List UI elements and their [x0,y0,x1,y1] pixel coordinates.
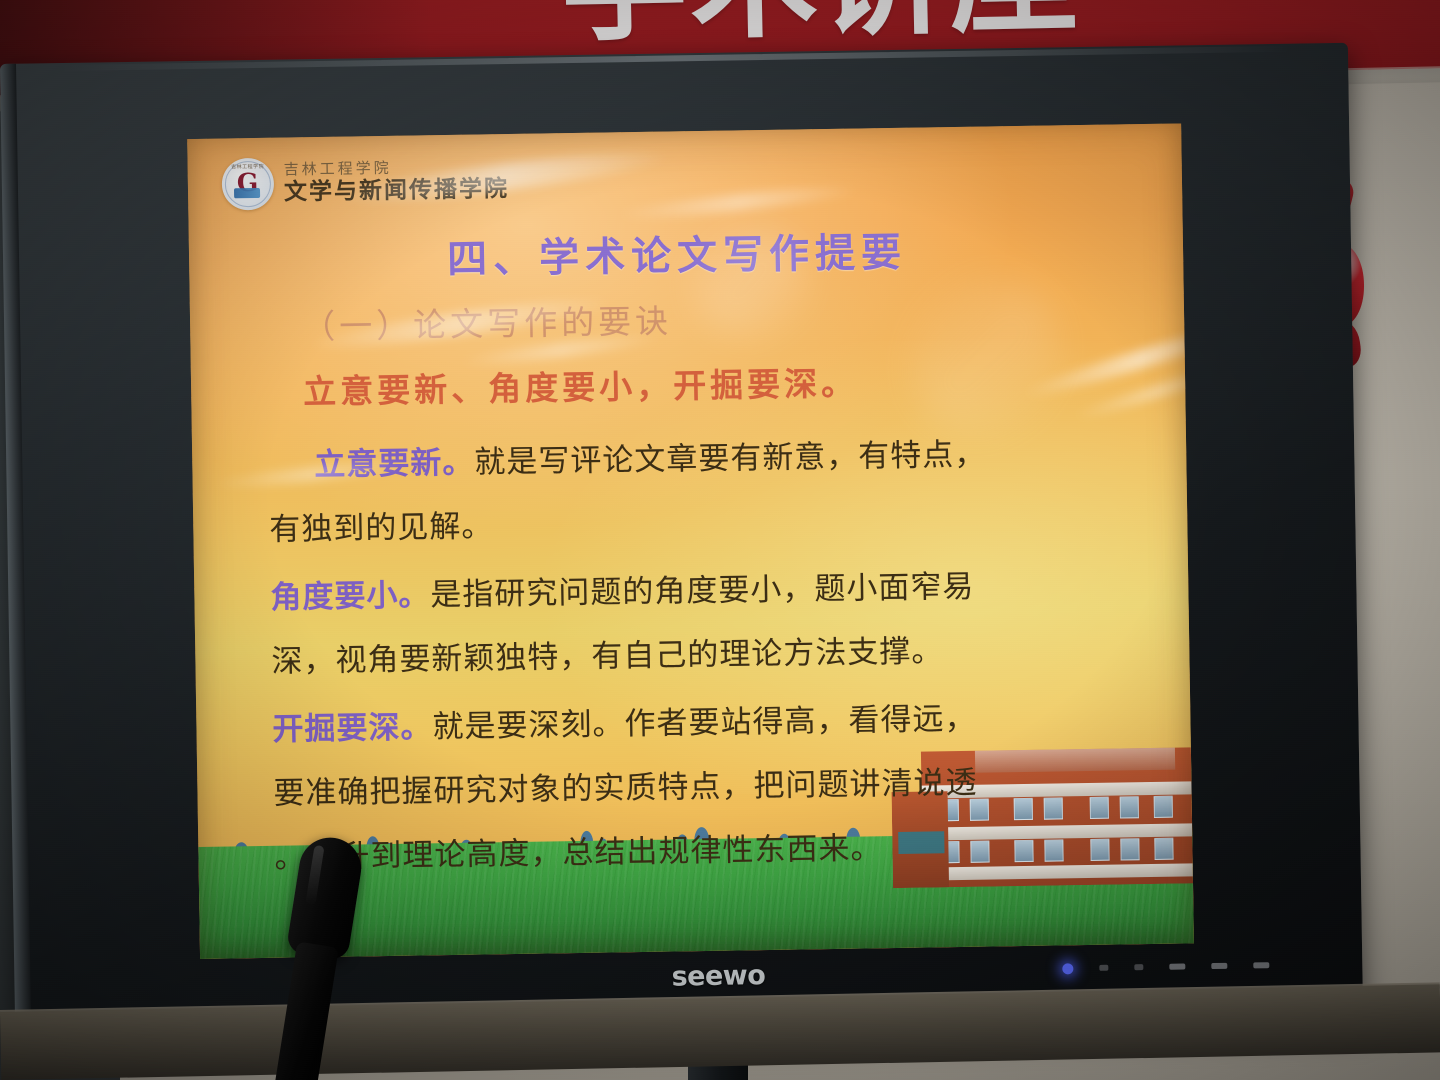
microphone-head [286,833,366,961]
slide-key-line: 立意要新、角度要小，开掘要深。 [303,357,859,414]
panel-brand-plate: seewo [628,957,809,994]
paragraph-2-lead: 角度要小。 [270,577,431,616]
brand-logo: seewo [671,960,765,992]
paragraph-1-lead: 立意要新。 [314,445,475,484]
logo-text-block: 吉林工程学院 文学与新闻传播学院 [284,159,510,205]
paragraph-1-body: 就是写评论文章要有新意，有特点， [474,437,987,481]
panel-button-1[interactable] [1099,965,1108,971]
university-emblem-icon: 吉林工程学院 G [222,158,275,211]
paragraph-3-body: 就是要深刻。作者要站得高，看得远， [432,701,976,746]
interactive-flat-panel[interactable]: 吉林工程学院 G 吉林工程学院 文学与新闻传播学院 四、学术论文写作提要 （一）… [0,43,1363,1044]
paragraph-3-continuation: 要准确把握研究对象的实质特点，把问题讲清说透 [273,765,977,812]
panel-button-5[interactable] [1253,962,1269,968]
panel-button-4[interactable] [1211,963,1227,969]
banner-text: 学术讲座 [559,0,1081,50]
paragraph-2-body: 是指研究问题的角度要小，题小面窄易 [430,569,974,614]
photo-scene: 学术讲座 [0,0,1440,1080]
slide-subtitle: （一）论文写作的要诀 [302,294,673,348]
paragraph-1-continuation: 有独到的见解。 [269,508,494,548]
university-name: 吉林工程学院 [284,159,509,178]
panel-button-3[interactable] [1169,963,1185,969]
paragraph-3-lead: 开掘要深。 [272,709,433,748]
microphone-stem [274,941,339,1080]
microphone-highlight [305,845,324,906]
slide-paragraph-2: 角度要小。是指研究问题的角度要小，题小面窄易 深，视角要新颖独特，有自己的理论方… [270,551,1192,693]
paragraph-2-continuation: 深，视角要新颖独特，有自己的理论方法支撑。 [271,633,943,680]
panel-button-2[interactable] [1134,964,1143,970]
presentation-slide: 吉林工程学院 G 吉林工程学院 文学与新闻传播学院 四、学术论文写作提要 （一）… [187,123,1194,959]
slide-title: 四、学术论文写作提要 [447,220,908,285]
emblem-blue-band [234,188,260,198]
slide-logo: 吉林工程学院 G 吉林工程学院 文学与新闻传播学院 [222,154,510,211]
panel-control-strip[interactable] [1062,949,1332,983]
slide-paragraph-1: 立意要新。就是写评论文章要有新意，有特点， 有独到的见解。 [268,419,1190,561]
panel-screen[interactable]: 吉林工程学院 G 吉林工程学院 文学与新闻传播学院 四、学术论文写作提要 （一）… [187,123,1194,959]
slide-paragraph-3: 开掘要深。就是要深刻。作者要站得高，看得远， 要准确把握研究对象的实质特点，把问… [272,683,1194,889]
power-led-icon [1062,963,1073,974]
emblem-inner: G [233,169,263,199]
college-name: 文学与新闻传播学院 [284,178,509,205]
